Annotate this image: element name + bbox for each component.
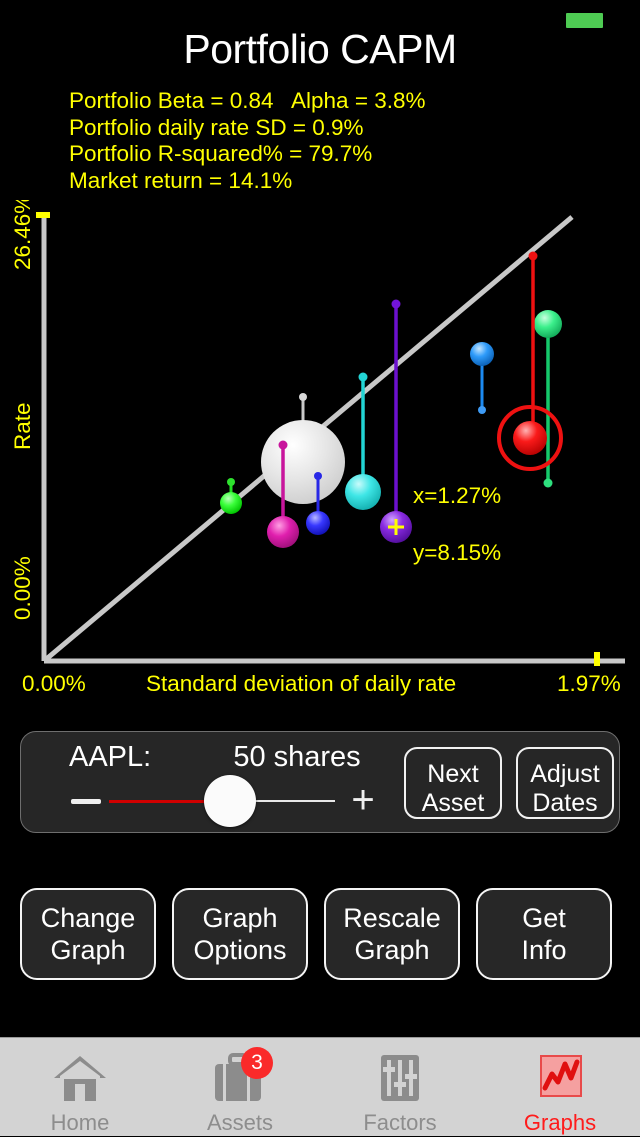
- stat-market-return: Market return = 14.1%: [69, 168, 609, 195]
- decrement-shares-button[interactable]: [71, 799, 101, 804]
- bubble: [534, 310, 562, 338]
- stats-block: Portfolio Beta = 0.84 Alpha = 3.8% Portf…: [69, 88, 609, 194]
- action-button-row: Change Graph Graph Options Rescale Graph…: [0, 888, 640, 982]
- graph-options-line1: Graph: [174, 902, 306, 934]
- y-axis-title: Rate: [10, 402, 35, 450]
- ticker-symbol-label: AAPL:: [69, 741, 151, 774]
- capm-scatter-chart[interactable]: x=1.27% y=8.15% 26.46% Rate 0.00% 0.00% …: [0, 200, 640, 710]
- stem-dot: [478, 406, 486, 414]
- next-asset-button[interactable]: Next Asset: [404, 747, 502, 819]
- tab-home-label: Home: [51, 1110, 110, 1136]
- graph-options-button[interactable]: Graph Options: [172, 888, 308, 980]
- y-axis-min-label: 0.00%: [10, 556, 35, 620]
- tab-graphs[interactable]: Graphs: [480, 1038, 640, 1137]
- assets-badge: 3: [241, 1047, 273, 1079]
- stem-dot: [392, 300, 401, 309]
- increment-shares-button[interactable]: +: [345, 783, 381, 819]
- change-graph-line1: Change: [22, 902, 154, 934]
- slider-fill: [109, 800, 211, 803]
- graph-options-line2: Options: [174, 934, 306, 966]
- change-graph-line2: Graph: [22, 934, 154, 966]
- data-point-dodgerblue[interactable]: [470, 342, 494, 414]
- crosshair-x-label: x=1.27%: [413, 483, 501, 508]
- page-title: Portfolio CAPM: [0, 26, 640, 73]
- stem-dot: [227, 478, 235, 486]
- y-axis-max-label: 26.46%: [10, 200, 35, 270]
- stem-dot: [299, 393, 307, 401]
- tab-factors[interactable]: Factors: [320, 1038, 480, 1137]
- briefcase-icon: 3: [211, 1052, 269, 1104]
- rescale-graph-button[interactable]: Rescale Graph: [324, 888, 460, 980]
- tab-factors-label: Factors: [363, 1110, 436, 1136]
- crosshair-y-label: y=8.15%: [413, 540, 501, 565]
- adjust-dates-line1: Adjust: [518, 760, 612, 789]
- x-axis-max-label: 1.97%: [557, 671, 621, 696]
- data-point-green-small[interactable]: [220, 478, 242, 514]
- bubble: [220, 492, 242, 514]
- line-chart-icon: [531, 1052, 589, 1104]
- adjust-dates-line2: Dates: [518, 789, 612, 818]
- get-info-line1: Get: [478, 902, 610, 934]
- rescale-graph-line2: Graph: [326, 934, 458, 966]
- bubble: [513, 421, 547, 455]
- stem-dot: [544, 479, 553, 488]
- stem-dot: [314, 472, 322, 480]
- share-count-value: 50 shares: [197, 741, 397, 774]
- bubble: [261, 420, 345, 504]
- adjust-dates-button[interactable]: Adjust Dates: [516, 747, 614, 819]
- next-asset-line1: Next: [406, 760, 500, 789]
- change-graph-button[interactable]: Change Graph: [20, 888, 156, 980]
- tab-assets[interactable]: 3 Assets: [160, 1038, 320, 1137]
- data-point-red-selected[interactable]: [499, 252, 561, 470]
- data-point-purple[interactable]: [380, 300, 412, 544]
- tab-assets-label: Assets: [207, 1110, 273, 1136]
- get-info-button[interactable]: Get Info: [476, 888, 612, 980]
- x-axis-min-label: 0.00%: [22, 671, 86, 696]
- share-control-panel: AAPL: 50 shares + Next Asset Adjust Date…: [20, 731, 620, 833]
- stat-beta-alpha: Portfolio Beta = 0.84 Alpha = 3.8%: [69, 88, 609, 115]
- bubble: [267, 516, 299, 548]
- stem-dot: [529, 252, 538, 261]
- tab-bar: Home 3 Assets Factors: [0, 1037, 640, 1136]
- y-axis-max-tick: [36, 212, 50, 218]
- bubble: [470, 342, 494, 366]
- bubble: [306, 511, 330, 535]
- slider-knob[interactable]: [204, 775, 256, 827]
- stat-daily-rate-sd: Portfolio daily rate SD = 0.9%: [69, 115, 609, 142]
- data-point-cyan[interactable]: [345, 373, 381, 511]
- next-asset-line2: Asset: [406, 789, 500, 818]
- house-icon: [51, 1052, 109, 1104]
- x-axis-title: Standard deviation of daily rate: [146, 671, 456, 696]
- stat-r-squared: Portfolio R-squared% = 79.7%: [69, 141, 609, 168]
- stem-dot: [279, 441, 288, 450]
- get-info-line2: Info: [478, 934, 610, 966]
- rescale-graph-line1: Rescale: [326, 902, 458, 934]
- stem-dot: [359, 373, 368, 382]
- bubble: [345, 474, 381, 510]
- tab-home[interactable]: Home: [0, 1038, 160, 1137]
- data-point-portfolio[interactable]: [261, 393, 345, 504]
- x-axis-max-tick: [594, 652, 600, 666]
- sliders-icon: [371, 1052, 429, 1104]
- tab-graphs-label: Graphs: [524, 1110, 596, 1136]
